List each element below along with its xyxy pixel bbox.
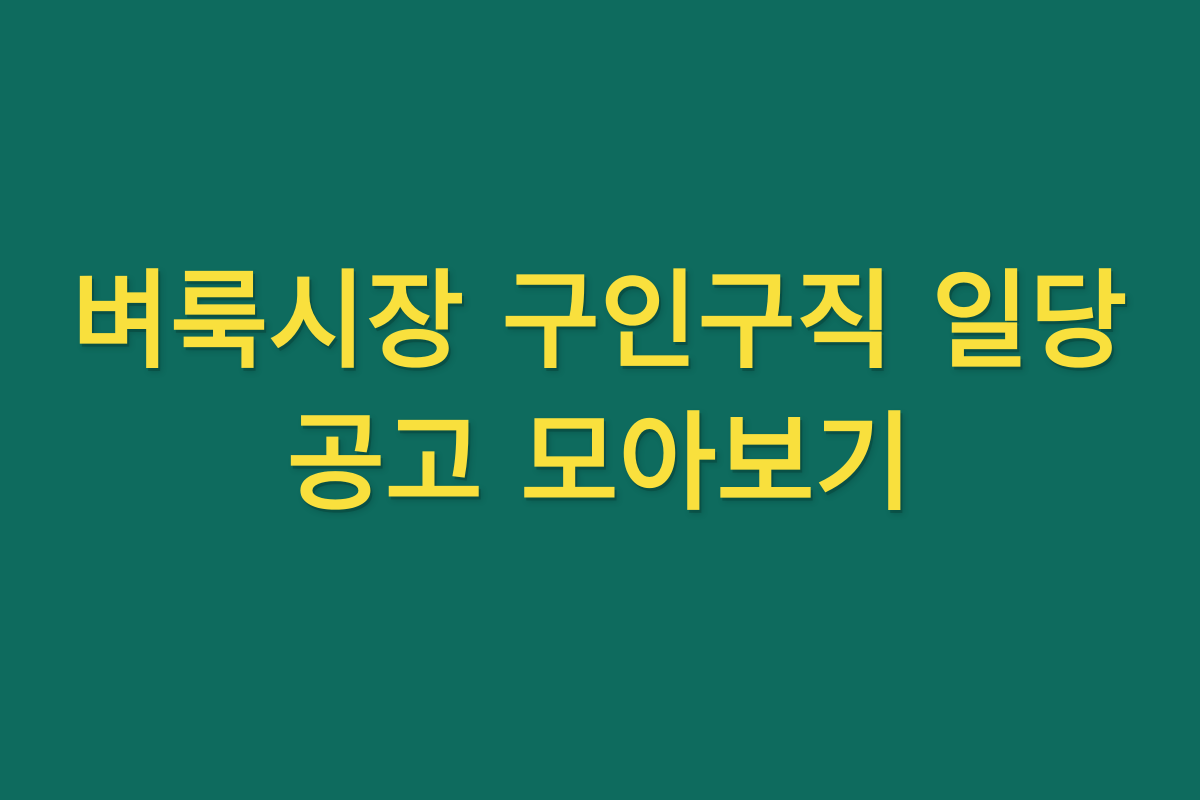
headline-line-1: 벼룩시장 구인구직 일당 [0, 251, 1200, 393]
headline-line-2: 공고 모아보기 [0, 393, 1200, 535]
banner-canvas: 벼룩시장 구인구직 일당 공고 모아보기 [0, 0, 1200, 800]
headline-block: 벼룩시장 구인구직 일당 공고 모아보기 [0, 251, 1200, 535]
